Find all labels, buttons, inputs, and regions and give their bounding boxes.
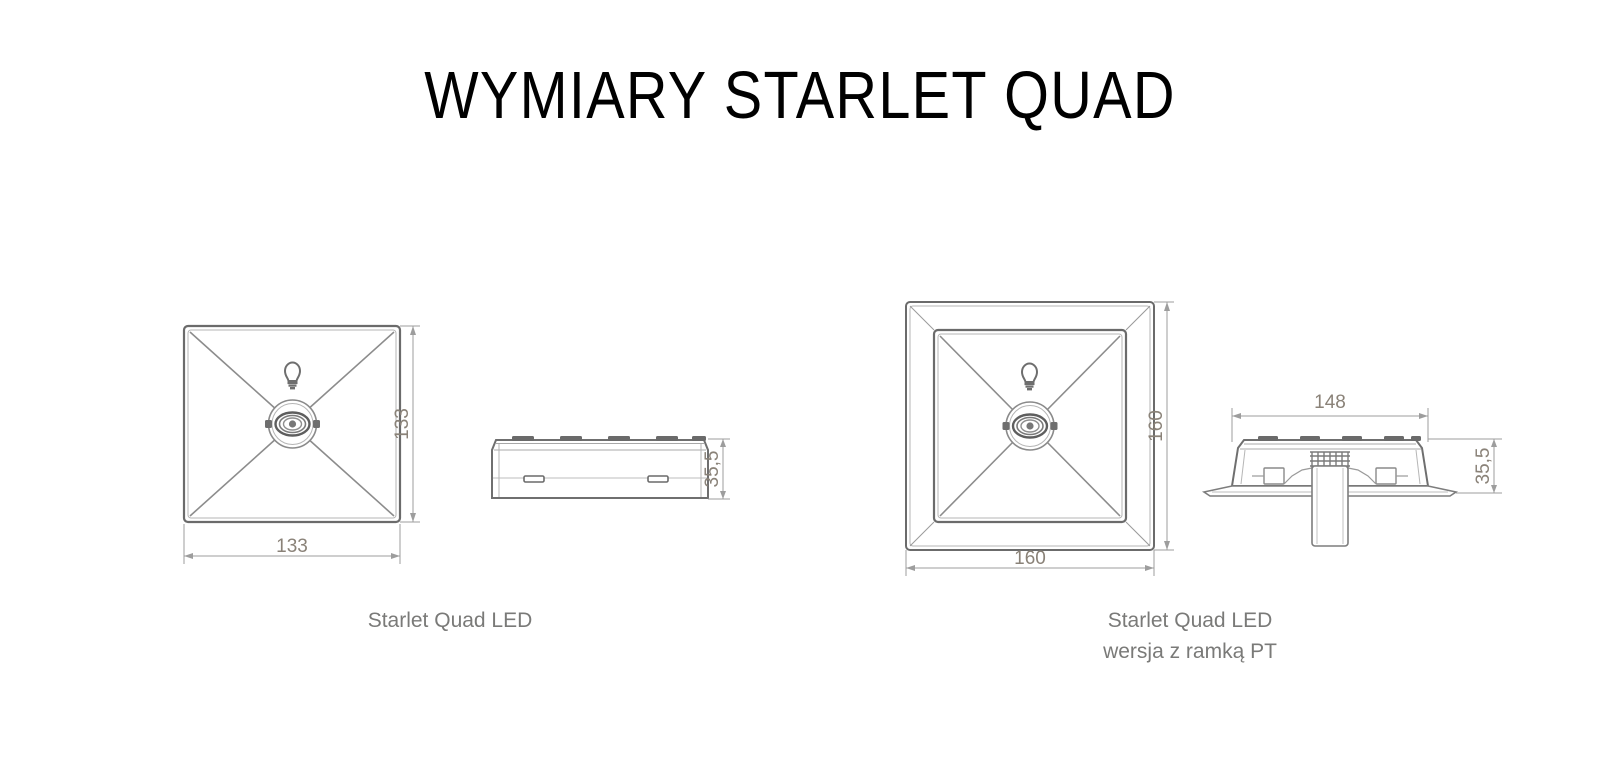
lens-tab-left — [265, 420, 272, 428]
dimension-label-width-standard: 133 — [276, 536, 308, 557]
lens-tab-right — [313, 420, 320, 428]
caption-frame: Starlet Quad LED wersja z ramką PT — [990, 605, 1390, 667]
dimension-label-height-frame: 160 — [1146, 410, 1167, 442]
lens-tab-left — [1003, 422, 1010, 430]
drawing-group-frame: 160 160 148 — [860, 280, 1540, 580]
lens-tab-right — [1051, 422, 1058, 430]
technical-drawing-frame: 160 160 148 — [860, 280, 1540, 580]
caption-frame-line-2: wersja z ramką PT — [990, 636, 1390, 667]
dimension-label-width-side-frame: 148 — [1314, 392, 1346, 413]
dimension-label-depth-standard: 35,5 — [702, 451, 723, 488]
page-title: WYMIARY STARLET QUAD — [112, 62, 1488, 129]
side-view-frame: 148 — [1204, 392, 1502, 546]
housing-outline — [492, 440, 708, 498]
technical-drawing-standard: 133 133 — [120, 280, 740, 570]
caption-standard-line-1: Starlet Quad LED — [250, 605, 650, 636]
caption-standard: Starlet Quad LED — [250, 605, 650, 636]
plan-view-frame: 160 160 — [906, 302, 1174, 576]
dimension-label-width-frame: 160 — [1014, 548, 1046, 569]
drawing-group-standard: 133 133 — [120, 280, 740, 570]
dimension-label-depth-frame: 35,5 — [1473, 448, 1494, 485]
caption-frame-line-1: Starlet Quad LED — [990, 605, 1390, 636]
dimension-label-height-standard: 133 — [392, 408, 413, 440]
side-view-standard: 35,5 — [492, 436, 730, 499]
plan-view-standard: 133 133 — [184, 326, 420, 564]
